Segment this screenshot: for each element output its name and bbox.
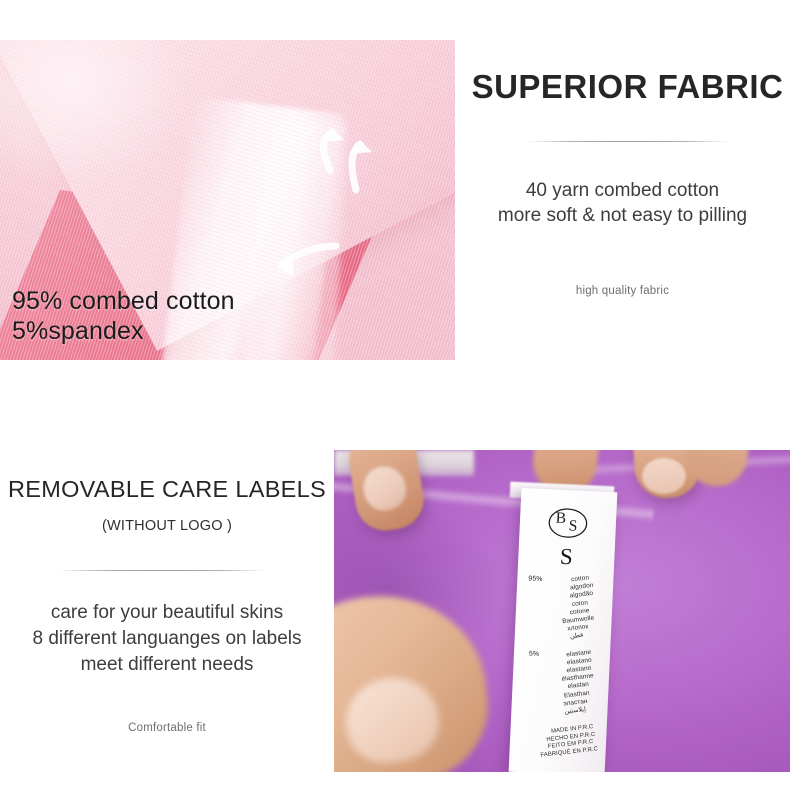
svg-text:S: S [568, 517, 577, 534]
care-tag-origin: MADE IN P.R.C HECHO EN P.R.C FEITO EM P.… [513, 726, 602, 760]
brand-monogram-icon: B S [541, 503, 595, 543]
superior-fabric-subheading: 40 yarn combed cotton more soft & not ea… [455, 178, 790, 228]
folded-pink-knit-fabric-photo: 95% combed cotton 5%spandex [0, 40, 455, 360]
marketing-page: 95% combed cotton 5%spandex SUPERIOR FAB… [0, 0, 790, 794]
care-tag-composition-95: 95% cotton algodon algodão coton cotone … [519, 575, 610, 645]
care-tag-composition-5: 5% elastane elastano elastano élasthanne… [515, 650, 606, 720]
heading-divider-bottom [58, 570, 266, 571]
heading-divider-top [527, 141, 729, 142]
section-removable-care-labels: REMOVABLE CARE LABELS (WITHOUT LOGO ) ca… [0, 400, 790, 794]
fingernail-top-right [642, 458, 686, 494]
care-tag: B S S 95% cotton algodon algodão coton c… [509, 488, 618, 772]
care-labels-body-text: care for your beautiful skins 8 differen… [0, 600, 334, 677]
svg-text:B: B [555, 510, 566, 527]
care-labels-text-block: REMOVABLE CARE LABELS (WITHOUT LOGO ) ca… [0, 450, 334, 794]
care-labels-subheading: (WITHOUT LOGO ) [0, 518, 334, 534]
care-tag-size: S [522, 543, 611, 570]
superior-fabric-micro-note: high quality fabric [455, 285, 790, 297]
page-title-removable-care-labels: REMOVABLE CARE LABELS [4, 476, 330, 503]
care-labels-micro-note: Comfortable fit [0, 722, 334, 734]
fabric-composition-caption: 95% combed cotton 5%spandex [12, 287, 235, 346]
purple-garment-care-label-photo: B S S 95% cotton algodon algodão coton c… [334, 450, 790, 772]
page-title-superior-fabric: SUPERIOR FABRIC [465, 68, 790, 106]
superior-fabric-text-block: SUPERIOR FABRIC 40 yarn combed cotton mo… [455, 40, 790, 360]
fingernail-top-left [358, 461, 412, 516]
section-superior-fabric: 95% combed cotton 5%spandex SUPERIOR FAB… [0, 0, 790, 400]
